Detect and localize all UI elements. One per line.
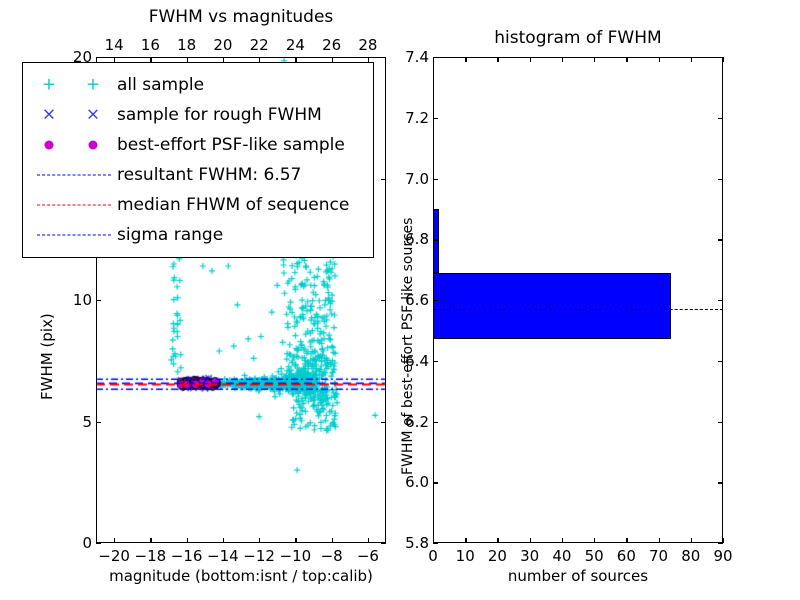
axis-tick	[433, 422, 438, 423]
axis-tick	[433, 300, 438, 301]
axis-tick-label: 7.0	[388, 170, 429, 188]
axis-tick	[718, 361, 723, 362]
legend-glyph: ×	[86, 107, 100, 124]
axis-tick-label: −18	[135, 547, 167, 565]
legend-glyph	[37, 235, 111, 236]
axis-tick	[530, 57, 531, 62]
axis-tick	[96, 300, 101, 301]
axis-tick	[465, 538, 466, 543]
axis-tick	[381, 179, 386, 180]
axis-tick	[530, 538, 531, 543]
axis-tick	[562, 538, 563, 543]
axis-tick	[626, 57, 627, 62]
right-plot-ylabel: FWHM of best-effort PSF-like sources	[400, 218, 416, 475]
legend-item-label: median FHWM of sequence	[117, 195, 349, 215]
axis-tick	[381, 300, 386, 301]
axis-tick-label: 6.6	[388, 291, 429, 309]
right-plot-xlabel: number of sources	[433, 567, 723, 585]
axis-tick	[433, 543, 438, 544]
axis-tick	[96, 57, 101, 58]
axis-tick-label: 6.8	[388, 230, 429, 248]
axis-tick	[187, 538, 188, 543]
axis-tick	[723, 57, 724, 62]
axis-tick	[594, 538, 595, 543]
axis-tick-label: −20	[98, 547, 130, 565]
legend-glyph: +	[42, 77, 56, 94]
axis-tick-label: 0	[62, 534, 92, 552]
axis-tick-label: 0	[428, 547, 438, 565]
axis-tick	[381, 543, 386, 544]
legend-box: ++all sample××sample for rough FWHMbest-…	[22, 62, 374, 258]
legend-marker-cross-icon: ××	[31, 102, 117, 128]
axis-tick	[368, 538, 369, 543]
axis-tick-label: 20	[488, 547, 507, 565]
axis-tick-label: −16	[171, 547, 203, 565]
axis-tick	[295, 538, 296, 543]
axis-tick-label: 18	[177, 36, 196, 54]
right-plot-title: histogram of FWHM	[433, 28, 723, 48]
axis-tick-label: 6.0	[388, 473, 429, 491]
axis-tick	[594, 57, 595, 62]
legend-marker-dashed-icon	[31, 192, 117, 218]
axis-tick	[433, 118, 438, 119]
axis-tick-label: −8	[321, 547, 343, 565]
axis-tick	[465, 57, 466, 62]
histogram-bar	[433, 209, 439, 273]
axis-tick	[433, 482, 438, 483]
axis-tick-label: 6.4	[388, 352, 429, 370]
axis-tick-label: 26	[322, 36, 341, 54]
legend-marker-circle-icon	[31, 132, 117, 158]
axis-tick-label: 24	[286, 36, 305, 54]
axis-tick	[433, 57, 438, 58]
axis-tick-label: −12	[243, 547, 275, 565]
histogram-median-line	[433, 309, 723, 310]
axis-tick	[497, 538, 498, 543]
axis-tick-label: 90	[713, 547, 732, 565]
legend-item-label: sample for rough FWHM	[117, 105, 322, 125]
axis-tick	[332, 538, 333, 543]
legend-glyph: ×	[42, 107, 56, 124]
axis-tick	[259, 538, 260, 543]
axis-tick	[718, 482, 723, 483]
axis-tick-label: 70	[649, 547, 668, 565]
axis-tick-label: 50	[585, 547, 604, 565]
axis-tick	[626, 538, 627, 543]
legend-item-label: all sample	[117, 75, 204, 95]
axis-tick	[723, 538, 724, 543]
axis-tick	[691, 538, 692, 543]
axis-tick	[659, 538, 660, 543]
axis-tick	[718, 543, 723, 544]
axis-tick	[150, 538, 151, 543]
axis-tick-label: 16	[141, 36, 160, 54]
legend-item: median FHWM of sequence	[31, 190, 363, 220]
axis-tick-label: 20	[213, 36, 232, 54]
axis-tick	[718, 300, 723, 301]
legend-item: sigma range	[31, 220, 363, 250]
axis-tick	[718, 179, 723, 180]
legend-glyph	[45, 141, 54, 150]
axis-tick	[381, 422, 386, 423]
axis-tick-label: 5.8	[388, 534, 429, 552]
legend-marker-dashed-icon	[31, 162, 117, 188]
legend-item: best-effort PSF-like sample	[31, 130, 363, 160]
axis-tick	[96, 543, 101, 544]
axis-tick-label: 7.2	[388, 109, 429, 127]
axis-tick	[433, 361, 438, 362]
axis-tick-label: −6	[357, 547, 379, 565]
axis-tick	[718, 57, 723, 58]
axis-tick	[497, 57, 498, 62]
axis-tick-label: 10	[456, 547, 475, 565]
axis-tick	[96, 422, 101, 423]
axis-tick	[718, 239, 723, 240]
axis-tick	[718, 422, 723, 423]
axis-tick	[659, 57, 660, 62]
legend-item-label: resultant FWHM: 6.57	[117, 165, 301, 185]
legend-marker-plus-icon: ++	[31, 72, 117, 98]
axis-tick-label: 6.2	[388, 413, 429, 431]
axis-tick	[718, 118, 723, 119]
axis-tick-label: 40	[552, 547, 571, 565]
legend-item: ++all sample	[31, 70, 363, 100]
axis-tick-label: 80	[681, 547, 700, 565]
axis-tick-label: 5	[62, 413, 92, 431]
legend-glyph	[89, 141, 98, 150]
legend-glyph: +	[86, 77, 100, 94]
legend-glyph	[37, 175, 111, 176]
axis-tick	[433, 239, 438, 240]
axis-tick-label: 10	[62, 291, 92, 309]
legend-item-label: best-effort PSF-like sample	[117, 135, 345, 155]
legend-item: resultant FWHM: 6.57	[31, 160, 363, 190]
axis-tick-label: 30	[520, 547, 539, 565]
axis-tick	[223, 538, 224, 543]
axis-tick	[381, 57, 386, 58]
axis-tick	[691, 57, 692, 62]
figure-canvas: FWHM vs magnitudes magnitude (bottom:isn…	[0, 0, 800, 600]
axis-tick-label: 22	[250, 36, 269, 54]
axis-tick-label: −14	[207, 547, 239, 565]
axis-tick	[433, 179, 438, 180]
legend-item: ××sample for rough FWHM	[31, 100, 363, 130]
legend-marker-dashdot-icon	[31, 222, 117, 248]
axis-tick	[114, 538, 115, 543]
axis-tick-label: 28	[358, 36, 377, 54]
histogram-bar	[433, 273, 671, 340]
axis-tick-label: 7.4	[388, 48, 429, 66]
axis-tick-label: 14	[105, 36, 124, 54]
axis-tick	[562, 57, 563, 62]
axis-tick-label: −10	[280, 547, 312, 565]
axis-tick-label: 60	[617, 547, 636, 565]
legend-item-label: sigma range	[117, 225, 223, 245]
legend-glyph	[37, 205, 111, 206]
